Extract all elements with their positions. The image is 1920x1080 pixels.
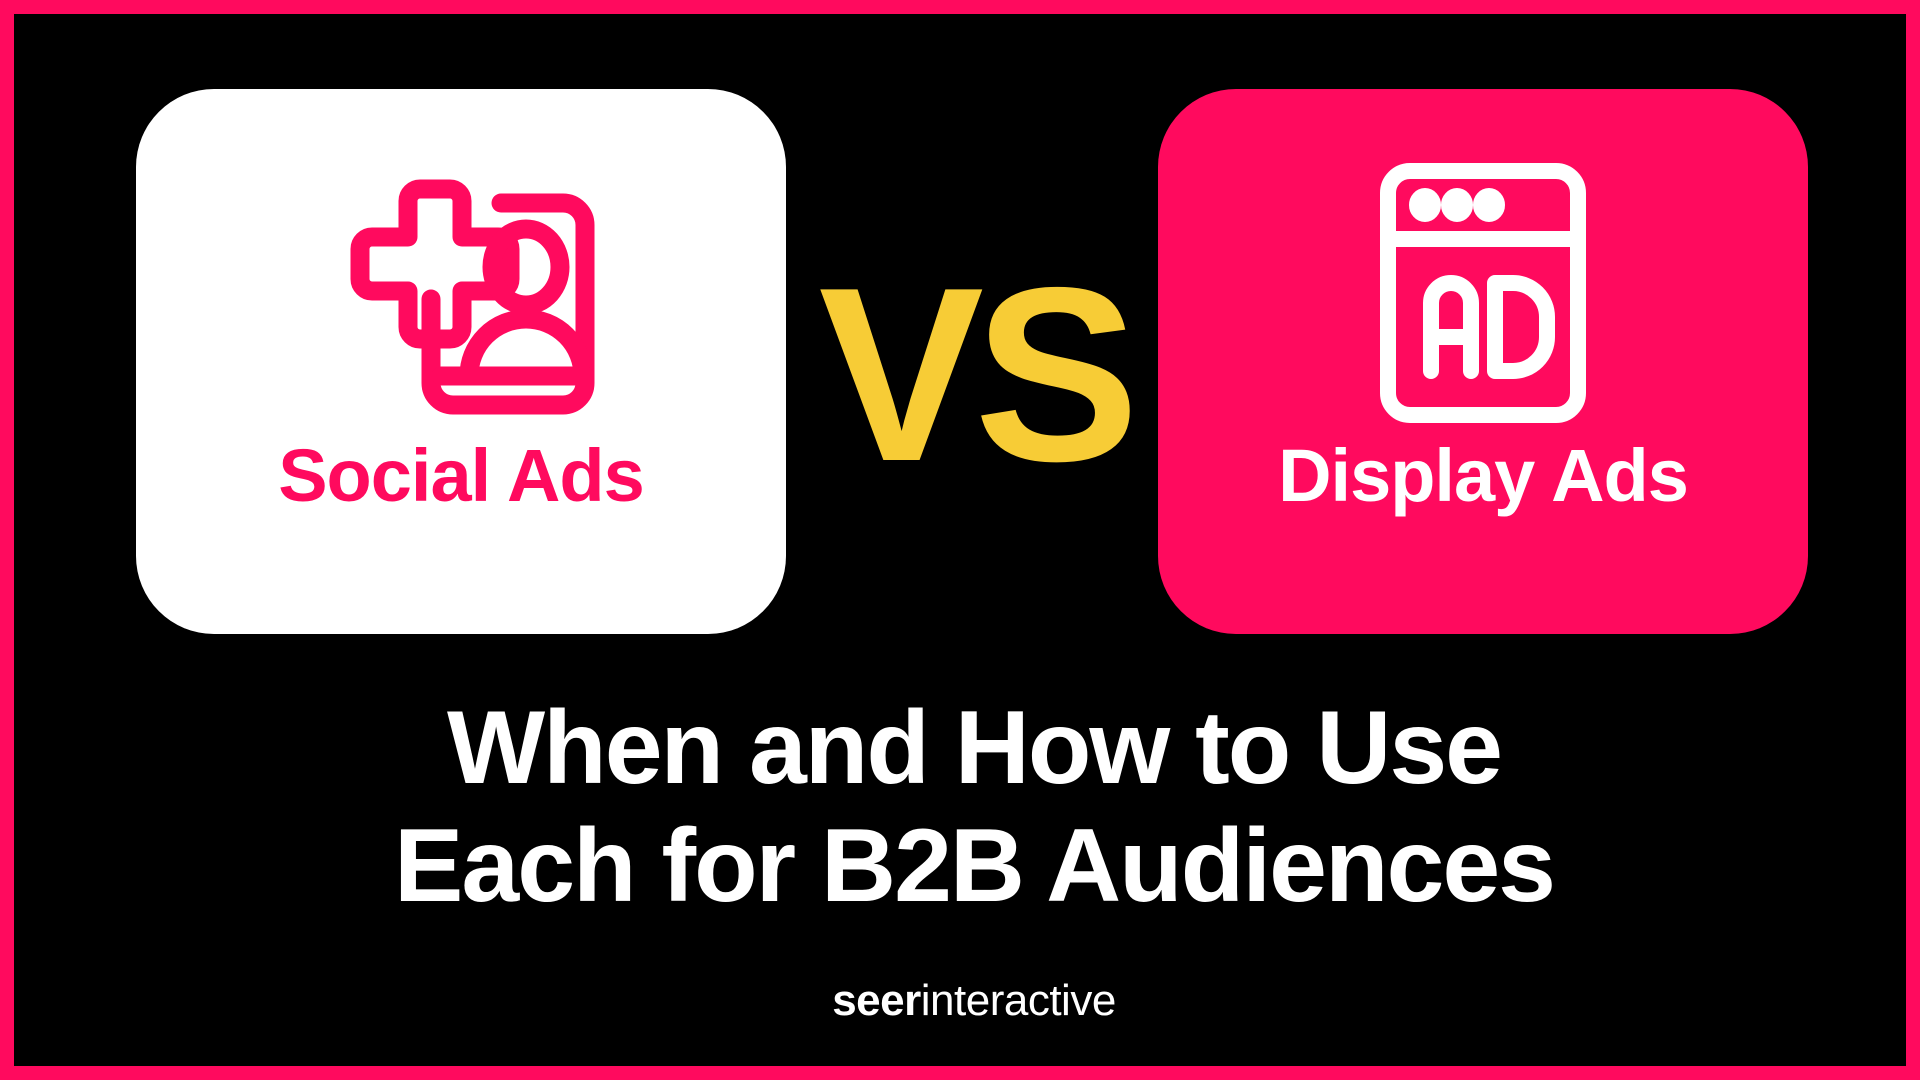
comparison-cards-row: Social Ads [14, 14, 1920, 654]
headline-line-1: When and How to Use [14, 690, 1920, 808]
browser-window-ad-icon [1333, 147, 1633, 439]
social-phone-person-plus-icon [311, 147, 611, 439]
headline-line-2: Each for B2B Audiences [14, 808, 1920, 926]
seer-interactive-logo: seerinteractive [14, 979, 1920, 1023]
logo-seer-text: seer [832, 976, 921, 1025]
social-ads-icon-wrap [311, 147, 611, 439]
poster-canvas: Social Ads [0, 0, 1920, 1080]
card-social-ads-label: Social Ads [278, 439, 644, 513]
page-title: When and How to Use Each for B2B Audienc… [14, 690, 1920, 925]
card-display-ads-label: Display Ads [1278, 439, 1688, 513]
card-social-ads[interactable]: Social Ads [136, 89, 786, 634]
logo-interactive-text: interactive [921, 976, 1116, 1025]
card-display-ads[interactable]: Display Ads [1158, 89, 1808, 634]
display-ads-icon-wrap [1333, 147, 1633, 439]
